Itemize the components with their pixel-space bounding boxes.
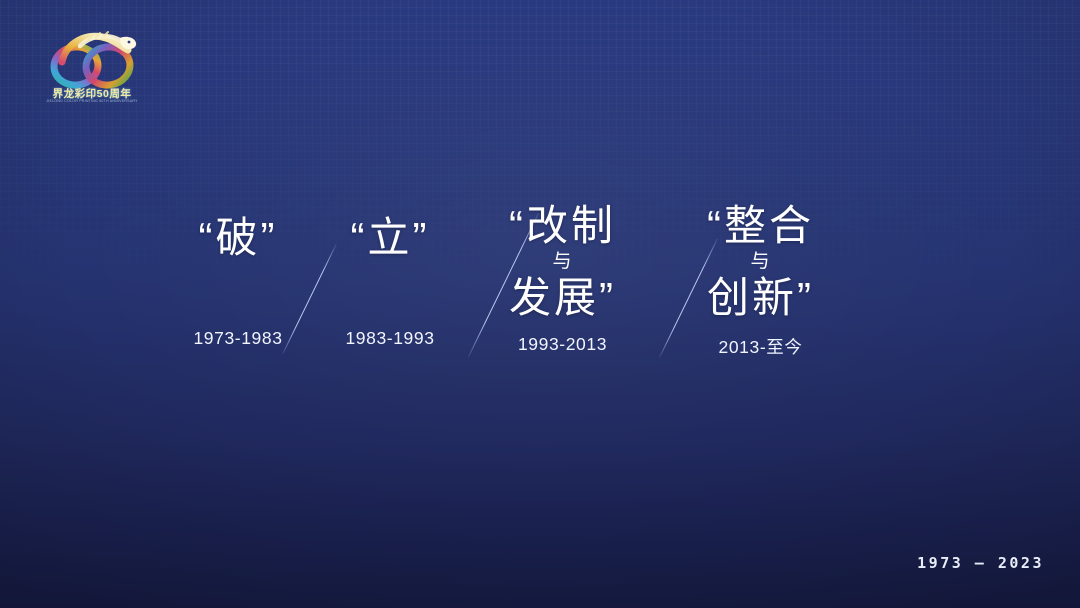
- timeline-phase-reform: “改制 与 发展” 1993-2013: [490, 202, 635, 355]
- phase-years: 2013-至今: [688, 334, 833, 359]
- phase-connector: 与: [688, 252, 833, 273]
- phase-years: 1983-1993: [327, 328, 453, 349]
- timeline-phase-po: “破” 1973-1983: [175, 214, 301, 349]
- slide-canvas: 界龙彩印50周年 JIELONG COLOR PRINTING 50TH ANN…: [0, 0, 1080, 608]
- phase-connector: 与: [490, 252, 635, 273]
- timeline-phase-integration: “整合 与 创新” 2013-至今: [688, 202, 833, 359]
- phase-years: 1973-1983: [175, 328, 301, 349]
- footer-year-range: 1973 — 2023: [917, 554, 1044, 572]
- phase-title-line-1: “改制: [490, 202, 635, 250]
- phase-title-line-1: “立”: [327, 214, 453, 262]
- phase-title-line-1: “破”: [175, 214, 301, 262]
- timeline-phase-li: “立” 1983-1993: [327, 214, 453, 349]
- phase-years: 1993-2013: [490, 334, 635, 355]
- phase-title-line-2: 发展”: [490, 274, 635, 322]
- anniversary-logo: 界龙彩印50周年 JIELONG COLOR PRINTING 50TH ANN…: [36, 18, 148, 110]
- phase-title-line-2: 创新”: [688, 274, 833, 322]
- logo-subwordmark: JIELONG COLOR PRINTING 50TH ANNIVERSARY: [36, 99, 148, 103]
- phase-title-line-1: “整合: [688, 202, 833, 250]
